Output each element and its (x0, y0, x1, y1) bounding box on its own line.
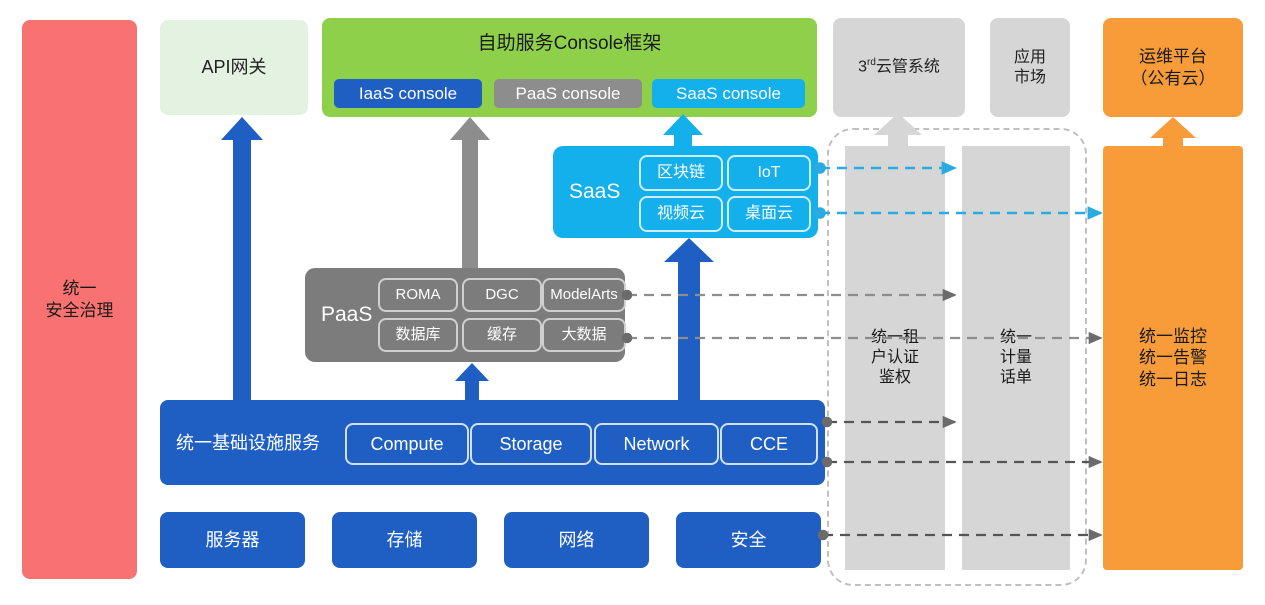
paas-item-dgc[interactable]: DGC (462, 278, 542, 312)
saas-layer: SaaS 区块链 IoT 视频云 桌面云 (553, 146, 818, 238)
paas-layer-label: PaaS (321, 302, 372, 328)
resource-box-security[interactable]: 安全 (676, 512, 821, 568)
middle-column-tenant-auth: 统一租 户认证 鉴权 (845, 146, 945, 570)
resource-box-storage[interactable]: 存储 (332, 512, 477, 568)
chip-paas-console[interactable]: PaaS console (494, 79, 642, 108)
chip-saas-console[interactable]: SaaS console (652, 79, 805, 108)
infra-item-compute[interactable]: Compute (345, 423, 469, 465)
saas-item-desktop-cloud[interactable]: 桌面云 (727, 196, 811, 232)
infra-bar-label: 统一基础设施服务 (176, 431, 320, 454)
app-market-box: 应用 市场 (990, 18, 1070, 117)
paas-item-database[interactable]: 数据库 (378, 318, 458, 352)
api-gateway-box: API网关 (160, 20, 308, 115)
saas-item-iot[interactable]: IoT (727, 155, 811, 191)
third-party-label: 3rd云管系统 (858, 57, 940, 77)
unified-infrastructure-service-bar: 统一基础设施服务 Compute Storage Network CCE (160, 400, 825, 485)
infra-item-network[interactable]: Network (594, 423, 719, 465)
self-service-console-frame: 自助服务Console框架 IaaS console PaaS console … (322, 18, 817, 117)
arrow-infra-to-api-gateway (221, 117, 263, 400)
console-frame-title: 自助服务Console框架 (322, 32, 817, 56)
resource-box-network[interactable]: 网络 (504, 512, 649, 568)
paas-item-cache[interactable]: 缓存 (462, 318, 542, 352)
arrow-ops-panel-to-ops-platform (1150, 117, 1196, 146)
arrow-saas-to-console (663, 114, 703, 146)
saas-item-video-cloud[interactable]: 视频云 (639, 196, 723, 232)
paas-item-bigdata[interactable]: 大数据 (542, 318, 626, 352)
arrow-infra-to-paas (455, 363, 489, 400)
arrow-paas-to-console (450, 117, 490, 268)
saas-item-blockchain[interactable]: 区块链 (639, 155, 723, 191)
infra-item-storage[interactable]: Storage (470, 423, 592, 465)
middle-column-metering: 统一 计量 话单 (962, 146, 1070, 570)
chip-iaas-console[interactable]: IaaS console (334, 79, 482, 108)
unified-security-governance-panel: 统一 安全治理 (22, 20, 137, 579)
paas-item-roma[interactable]: ROMA (378, 278, 458, 312)
paas-layer: PaaS ROMA DGC ModelArts 数据库 缓存 大数据 (305, 268, 625, 362)
paas-item-modelarts[interactable]: ModelArts (542, 278, 626, 312)
ops-platform-public-cloud-box: 运维平台 （公有云） (1103, 18, 1243, 117)
architecture-diagram: 统一租 户认证 鉴权 统一 计量 话单 统一 安全治理 API网关 自助服务Co… (0, 0, 1265, 605)
third-party-cloud-management-box: 3rd云管系统 (833, 18, 965, 117)
unified-monitoring-panel: 统一监控 统一告警 统一日志 (1103, 146, 1243, 570)
saas-layer-label: SaaS (569, 179, 620, 205)
resource-box-server[interactable]: 服务器 (160, 512, 305, 568)
infra-item-cce[interactable]: CCE (720, 423, 818, 465)
arrow-infra-to-saas (664, 238, 714, 400)
